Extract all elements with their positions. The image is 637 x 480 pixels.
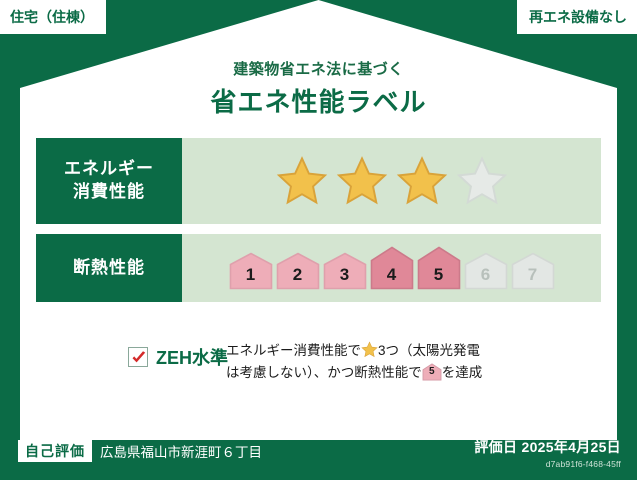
zeh-status: ZEH水準 xyxy=(36,338,226,370)
energy-label-line1: エネルギー xyxy=(64,159,154,178)
insulation-level-scale: 1234567 xyxy=(229,246,555,290)
label-footer: 自己評価 広島県福山市新涯町６丁目 評価日 2025年4月25日 d7ab91f… xyxy=(0,432,637,480)
insulation-level-number: 5 xyxy=(417,265,461,285)
insulation-level-number: 3 xyxy=(323,265,367,285)
insulation-level-number: 1 xyxy=(229,265,273,285)
zeh-desc-part4: を達成 xyxy=(442,365,483,380)
star-icon-empty xyxy=(455,155,509,207)
zeh-desc-stars: 3つ xyxy=(378,343,399,358)
star-icon-filled xyxy=(335,155,389,207)
insulation-level-number: 7 xyxy=(511,265,555,285)
insulation-level-number: 4 xyxy=(370,265,414,285)
star-icon-inline xyxy=(361,341,378,358)
insulation-level-badge: 4 xyxy=(370,246,414,290)
zeh-checkbox[interactable] xyxy=(128,347,148,367)
insulation-performance-label: 断熱性能 xyxy=(36,234,182,302)
insulation-level-badge: 2 xyxy=(276,252,320,290)
label-subtitle: 建築物省エネ法に基づく xyxy=(0,58,637,79)
energy-performance-label: 住宅（住棟） 再エネ設備なし 建築物省エネ法に基づく 省エネ性能ラベル エネルギ… xyxy=(0,0,637,480)
energy-performance-label: エネルギー 消費性能 xyxy=(36,138,182,224)
star-icon-filled xyxy=(275,155,329,207)
label-title: 省エネ性能ラベル xyxy=(0,82,637,119)
star-icon-filled xyxy=(395,155,449,207)
check-icon xyxy=(130,349,148,367)
insulation-level-badge: 7 xyxy=(511,252,555,290)
insulation-badge-inline: 5 xyxy=(422,363,442,381)
zeh-label: ZEH水準 xyxy=(156,344,228,370)
zeh-description: エネルギー消費性能で3つ（太陽光発電は考慮しない）、かつ断熱性能で5を達成 xyxy=(226,338,601,385)
evaluation-date: 評価日 2025年4月25日 xyxy=(474,437,621,457)
evaluation-date-label: 評価日 xyxy=(474,439,517,455)
energy-performance-row: エネルギー 消費性能 xyxy=(36,138,601,224)
renewable-energy-text: 再エネ設備なし xyxy=(529,10,627,24)
evaluation-date-value: 2025年4月25日 xyxy=(521,439,621,455)
zeh-section: ZEH水準 エネルギー消費性能で3つ（太陽光発電は考慮しない）、かつ断熱性能で5… xyxy=(36,338,601,385)
property-address: 広島県福山市新涯町６丁目 xyxy=(100,441,262,461)
insulation-level-number: 6 xyxy=(464,265,508,285)
zeh-desc-part2: （太陽光発電 xyxy=(399,343,480,358)
evaluation-id: d7ab91f6-f468-45ff xyxy=(474,459,621,469)
insulation-performance-row: 断熱性能 1234567 xyxy=(36,234,601,302)
insulation-badge-inline-number: 5 xyxy=(422,364,442,381)
energy-label-line2: 消費性能 xyxy=(73,182,145,201)
renewable-energy-tab: 再エネ設備なし xyxy=(517,0,637,34)
insulation-label-text: 断熱性能 xyxy=(73,257,145,280)
insulation-level-badge: 6 xyxy=(464,252,508,290)
insulation-level-badge: 1 xyxy=(229,252,273,290)
insulation-level-badge: 5 xyxy=(417,246,461,290)
building-type-text: 住宅（住棟） xyxy=(10,10,94,24)
insulation-level-number: 2 xyxy=(276,265,320,285)
insulation-level-badge: 3 xyxy=(323,252,367,290)
building-type-tab: 住宅（住棟） xyxy=(0,0,106,34)
zeh-desc-part1: エネルギー消費性能で xyxy=(226,343,361,358)
energy-star-rating xyxy=(182,138,601,224)
zeh-desc-part3: は考慮しない）、かつ断熱性能で xyxy=(226,365,422,380)
self-evaluation-badge: 自己評価 xyxy=(18,440,92,462)
